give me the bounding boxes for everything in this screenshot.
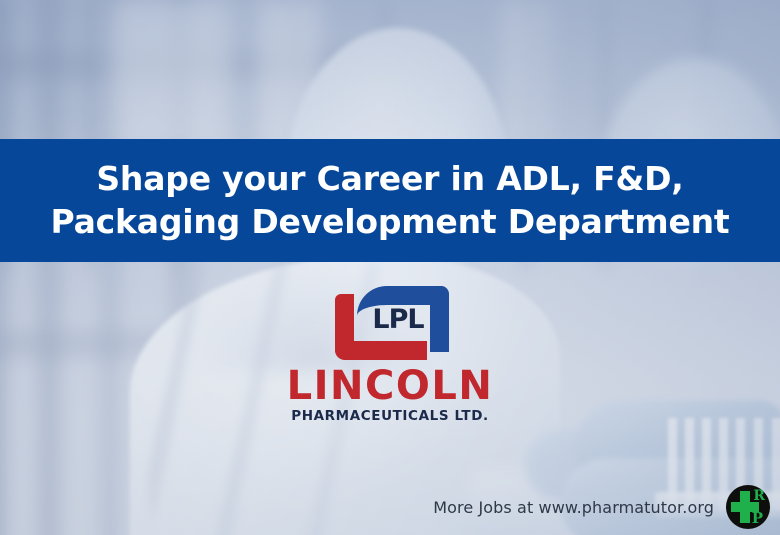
headline-banner: Shape your Career in ADL, F&D, Packaging… bbox=[0, 139, 780, 262]
company-subtitle: PHARMACEUTICALS LTD. bbox=[291, 410, 489, 424]
pharmatutor-letter-r: R bbox=[753, 489, 765, 503]
headline-title: Shape your Career in ADL, F&D, Packaging… bbox=[0, 158, 780, 244]
company-name: LINCOLN bbox=[287, 366, 494, 406]
company-logo: LPL LINCOLN PHARMACEUTICALS LTD. bbox=[0, 286, 780, 424]
lpl-monogram: LPL bbox=[360, 306, 436, 333]
background-photo bbox=[0, 0, 780, 535]
pharmatutor-logo-icon: R P bbox=[726, 485, 770, 529]
footer-credit: More Jobs at www.pharmatutor.org R P bbox=[433, 485, 770, 529]
lpl-logo-mark-icon: LPL bbox=[329, 286, 451, 360]
job-advertisement-poster: Shape your Career in ADL, F&D, Packaging… bbox=[0, 0, 780, 535]
footer-credit-text: More Jobs at www.pharmatutor.org bbox=[433, 498, 714, 517]
pharmatutor-letter-p: P bbox=[752, 511, 763, 526]
photo-vignette bbox=[0, 0, 780, 535]
